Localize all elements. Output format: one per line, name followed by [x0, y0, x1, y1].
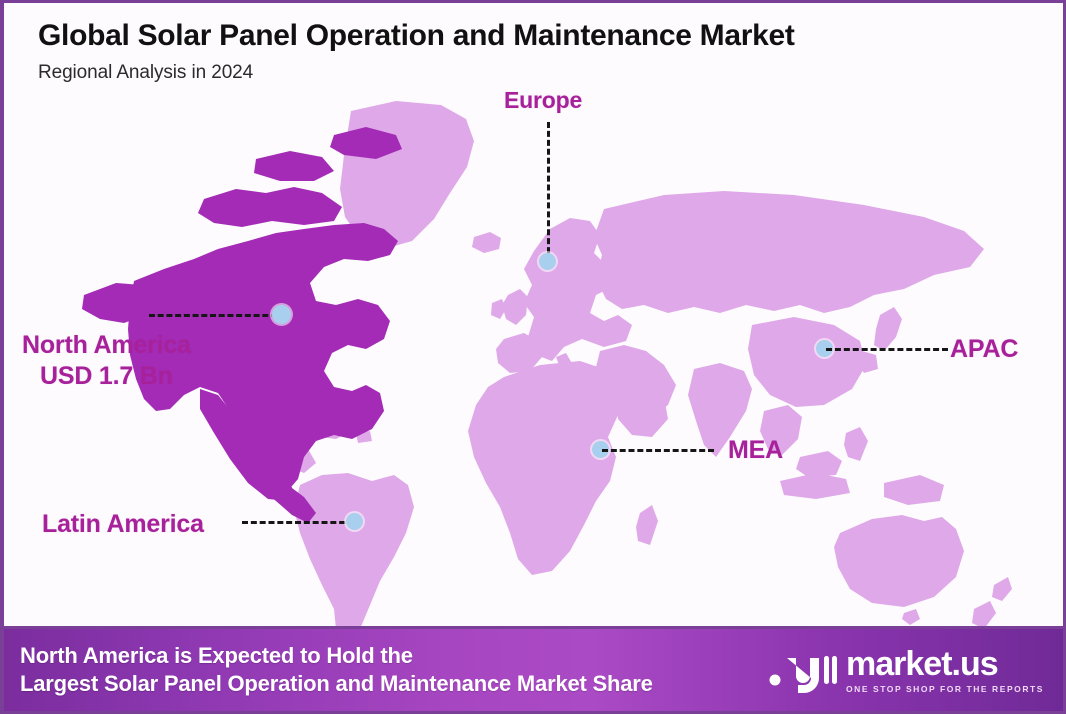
world-map-svg	[4, 89, 1066, 629]
world-map-container	[4, 89, 1066, 629]
footer-headline: North America is Expected to Hold the La…	[20, 642, 653, 698]
footer-headline-line1: North America is Expected to Hold the	[20, 642, 653, 670]
footer-banner: North America is Expected to Hold the La…	[4, 626, 1066, 714]
page-subtitle: Regional Analysis in 2024	[38, 62, 1038, 84]
footer-headline-line2: Largest Solar Panel Operation and Mainte…	[20, 670, 653, 698]
header: Global Solar Panel Operation and Mainten…	[38, 19, 1038, 84]
infographic-canvas: Global Solar Panel Operation and Mainten…	[0, 0, 1066, 714]
market-us-logo[interactable]: market.us ONE STOP SHOP FOR THE REPORTS	[767, 646, 1056, 694]
page-title: Global Solar Panel Operation and Mainten…	[38, 19, 1038, 52]
market-us-logo-mark-icon	[767, 646, 837, 694]
market-us-logo-text: market.us ONE STOP SHOP FOR THE REPORTS	[846, 647, 1044, 694]
logo-name: market.us	[846, 647, 998, 681]
logo-tagline: ONE STOP SHOP FOR THE REPORTS	[846, 684, 1044, 694]
